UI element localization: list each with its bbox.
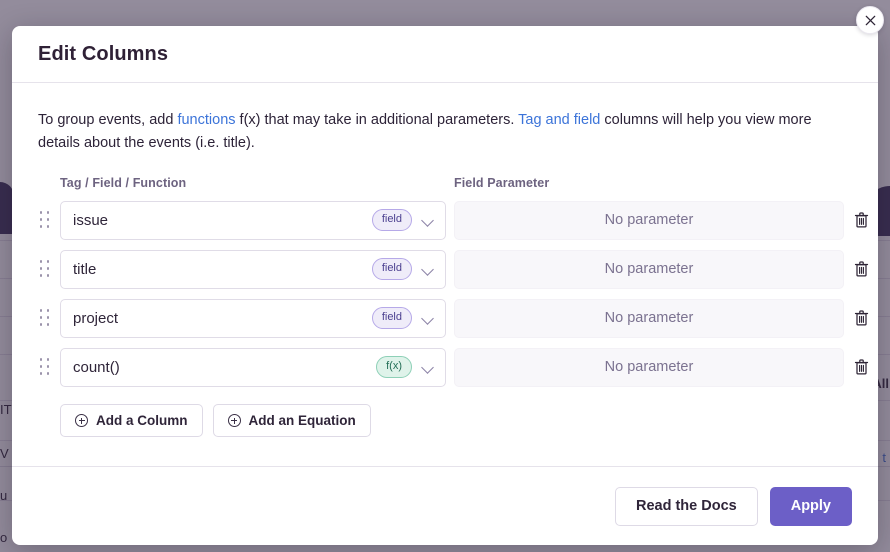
- add-equation-label: Add an Equation: [249, 413, 356, 428]
- trash-icon: [853, 260, 870, 278]
- column-type-badge: field: [372, 209, 412, 231]
- field-parameter-value: No parameter: [605, 359, 694, 375]
- drag-handle-icon[interactable]: [38, 308, 52, 328]
- field-parameter-value: No parameter: [605, 261, 694, 277]
- close-glyph: [865, 15, 876, 26]
- field-parameter-value: No parameter: [605, 212, 694, 228]
- column-row: projectfieldNo parameter: [38, 294, 852, 343]
- field-parameter-value: No parameter: [605, 310, 694, 326]
- modal-body: To group events, add functions f(x) that…: [12, 83, 878, 466]
- intro-paragraph: To group events, add functions f(x) that…: [38, 109, 850, 156]
- field-parameter-input: No parameter: [454, 299, 844, 338]
- add-column-label: Add a Column: [96, 413, 188, 428]
- delete-row-button[interactable]: [848, 256, 874, 282]
- column-type-badge: field: [372, 258, 412, 280]
- edit-columns-modal: Edit Columns To group events, add functi…: [12, 26, 878, 545]
- apply-label: Apply: [791, 498, 831, 514]
- trash-icon: [853, 358, 870, 376]
- modal-footer: Read the Docs Apply: [12, 466, 878, 545]
- column-row: issuefieldNo parameter: [38, 196, 852, 245]
- tag-and-field-link[interactable]: Tag and field: [518, 112, 600, 128]
- drag-handle-icon[interactable]: [38, 357, 52, 377]
- add-column-button[interactable]: Add a Column: [60, 404, 203, 437]
- column-type-badge: field: [372, 307, 412, 329]
- page-title: Edit Columns: [38, 43, 168, 66]
- field-parameter-input: No parameter: [454, 348, 844, 387]
- column-row: count()f(x)No parameter: [38, 343, 852, 392]
- drag-handle-icon[interactable]: [38, 210, 52, 230]
- column-value: count(): [73, 359, 376, 376]
- read-the-docs-button[interactable]: Read the Docs: [615, 487, 758, 526]
- field-parameter-input: No parameter: [454, 250, 844, 289]
- plus-circle-icon: [75, 414, 88, 427]
- add-buttons-group: Add a Column Add an Equation: [60, 404, 852, 437]
- apply-button[interactable]: Apply: [770, 487, 852, 526]
- trash-icon: [853, 309, 870, 327]
- intro-text-1: To group events, add: [38, 112, 177, 128]
- field-parameter-input: No parameter: [454, 201, 844, 240]
- delete-row-button[interactable]: [848, 207, 874, 233]
- read-the-docs-label: Read the Docs: [636, 498, 737, 514]
- intro-text-2: f(x) that may take in additional paramet…: [236, 112, 519, 128]
- column-select[interactable]: count()f(x): [60, 348, 446, 387]
- drag-handle-icon[interactable]: [38, 259, 52, 279]
- column-type-badge: f(x): [376, 356, 412, 378]
- column-value: project: [73, 310, 372, 327]
- column-select[interactable]: issuefield: [60, 201, 446, 240]
- trash-icon: [853, 211, 870, 229]
- close-icon[interactable]: [856, 6, 884, 34]
- columns-header-row: Tag / Field / Function Field Parameter: [38, 176, 852, 190]
- chevron-down-icon: [420, 310, 436, 326]
- modal-header: Edit Columns: [12, 26, 878, 83]
- column-value: title: [73, 261, 372, 278]
- functions-link[interactable]: functions: [177, 112, 235, 128]
- column-select[interactable]: titlefield: [60, 250, 446, 289]
- plus-circle-icon: [228, 414, 241, 427]
- column-header-tag-field-function: Tag / Field / Function: [60, 176, 446, 190]
- column-rows-list: issuefieldNo parametertitlefieldNo param…: [38, 196, 852, 392]
- delete-row-button[interactable]: [848, 305, 874, 331]
- column-header-field-parameter: Field Parameter: [454, 176, 844, 190]
- column-value: issue: [73, 212, 372, 229]
- chevron-down-icon: [420, 261, 436, 277]
- column-select[interactable]: projectfield: [60, 299, 446, 338]
- chevron-down-icon: [420, 359, 436, 375]
- add-equation-button[interactable]: Add an Equation: [213, 404, 371, 437]
- column-row: titlefieldNo parameter: [38, 245, 852, 294]
- delete-row-button[interactable]: [848, 354, 874, 380]
- chevron-down-icon: [420, 212, 436, 228]
